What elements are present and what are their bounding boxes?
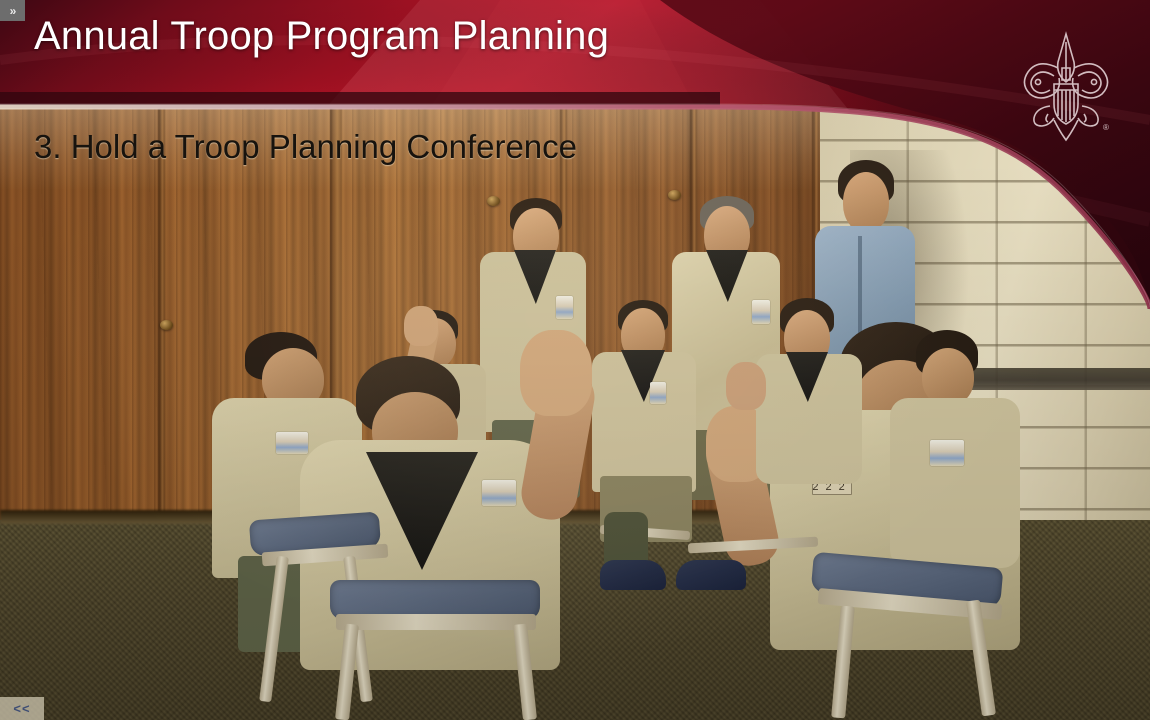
presentation-slide: 222	[0, 0, 1150, 720]
next-slide-button[interactable]: »	[0, 0, 25, 21]
folding-chair-seat	[336, 614, 536, 630]
cabinet-seam	[158, 0, 165, 560]
cabinet-knob	[160, 320, 173, 330]
cabinet-knob	[487, 196, 500, 206]
previous-slide-button[interactable]: <<	[0, 697, 44, 720]
cabinet-knob	[668, 190, 681, 200]
troop-planning-conference-photo: 222	[0, 0, 1150, 720]
slide-subtitle: 3. Hold a Troop Planning Conference	[34, 128, 577, 166]
